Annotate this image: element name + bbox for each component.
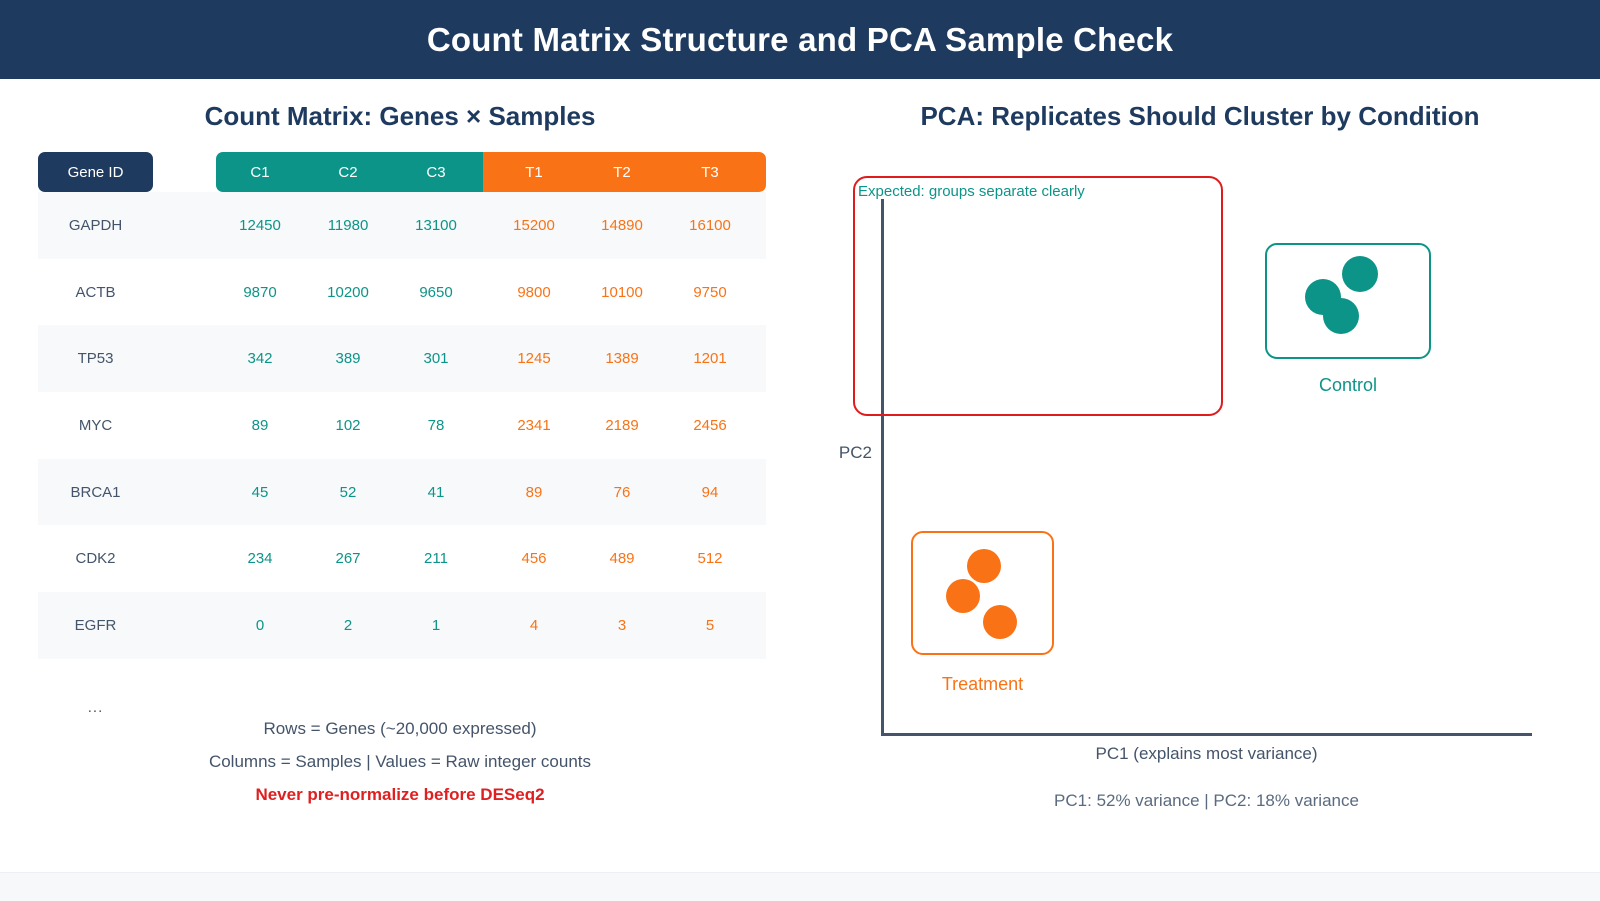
expected-separation-note: Expected: groups separate clearly: [858, 183, 1085, 200]
table-row: MYC8910278234121892456: [38, 392, 766, 459]
cell-count-treatment: 10100: [578, 284, 666, 301]
cell-count-treatment: 94: [666, 484, 754, 501]
cell-gene-name: EGFR: [38, 617, 153, 634]
cell-count-control: 9870: [216, 284, 304, 301]
table-row: CDK2234267211456489512: [38, 525, 766, 592]
cell-count-control: 12450: [216, 217, 304, 234]
treatment-cluster-box: [911, 531, 1054, 655]
control-point-1: [1342, 256, 1378, 292]
cell-count-control: 234: [216, 550, 304, 567]
cell-count-control: 45: [216, 484, 304, 501]
treatment-point-3: [983, 605, 1017, 639]
cell-count-control: 13100: [392, 217, 480, 234]
column-header-t1: T1: [490, 152, 578, 192]
cell-count-control: 89: [216, 417, 304, 434]
cell-count-treatment: 456: [490, 550, 578, 567]
pca-panel: PCA: Replicates Should Cluster by Condit…: [800, 79, 1600, 872]
column-header-gene-id: Gene ID: [38, 152, 153, 192]
cell-count-treatment: 2189: [578, 417, 666, 434]
column-header-t2: T2: [578, 152, 666, 192]
treatment-point-1: [967, 549, 1001, 583]
cell-count-treatment: 9750: [666, 284, 754, 301]
cell-count-treatment: 2456: [666, 417, 754, 434]
control-point-3: [1323, 298, 1359, 334]
pca-x-axis-line: [881, 733, 1532, 736]
cell-count-treatment: 89: [490, 484, 578, 501]
cell-count-control: 9650: [392, 284, 480, 301]
control-cluster-label: Control: [1265, 375, 1431, 396]
pca-scatter-plot: PC2 PC1 (explains most variance) Expecte…: [800, 79, 1600, 799]
pca-variance-note: PC1: 52% variance | PC2: 18% variance: [881, 791, 1532, 811]
column-header-c2: C2: [304, 152, 392, 192]
cell-count-control: 267: [304, 550, 392, 567]
table-continuation-marker: ...: [38, 699, 153, 716]
cell-count-control: 2: [304, 617, 392, 634]
cell-count-treatment: 489: [578, 550, 666, 567]
count-matrix-captions: Rows = Genes (~20,000 expressed) Columns…: [0, 719, 800, 818]
cell-count-treatment: 5: [666, 617, 754, 634]
cell-count-treatment: 1201: [666, 350, 754, 367]
cell-count-treatment: 16100: [666, 217, 754, 234]
control-cluster-box: [1265, 243, 1431, 359]
cell-count-control: 211: [392, 550, 480, 567]
table-row: TP53342389301124513891201: [38, 325, 766, 392]
count-matrix-title: Count Matrix: Genes × Samples: [0, 101, 800, 132]
column-header-t3: T3: [666, 152, 754, 192]
pca-y-axis-label: PC2: [800, 443, 872, 463]
table-header-row: Gene ID C1 C2 C3 T1 T2 T3: [38, 152, 766, 192]
cell-count-treatment: 15200: [490, 217, 578, 234]
cell-gene-name: CDK2: [38, 550, 153, 567]
cell-count-control: 301: [392, 350, 480, 367]
cell-count-treatment: 1245: [490, 350, 578, 367]
cell-count-control: 78: [392, 417, 480, 434]
table-row: BRCA1455241897694: [38, 459, 766, 526]
table-body: GAPDH124501198013100152001489016100ACTB9…: [38, 192, 766, 659]
cell-gene-name: BRCA1: [38, 484, 153, 501]
cell-count-treatment: 3: [578, 617, 666, 634]
header-banner: Count Matrix Structure and PCA Sample Ch…: [0, 0, 1600, 79]
treatment-point-2: [946, 579, 980, 613]
cell-count-treatment: 1389: [578, 350, 666, 367]
column-header-c1: C1: [216, 152, 304, 192]
page-title: Count Matrix Structure and PCA Sample Ch…: [427, 21, 1173, 59]
cell-count-treatment: 512: [666, 550, 754, 567]
table-row: GAPDH124501198013100152001489016100: [38, 192, 766, 259]
cell-count-treatment: 4: [490, 617, 578, 634]
cell-count-treatment: 2341: [490, 417, 578, 434]
cell-count-treatment: 14890: [578, 217, 666, 234]
cell-count-control: 41: [392, 484, 480, 501]
expected-separation-highlight-box: [853, 176, 1223, 416]
pca-x-axis-label: PC1 (explains most variance): [881, 744, 1532, 764]
cell-gene-name: ACTB: [38, 284, 153, 301]
cell-count-control: 11980: [304, 217, 392, 234]
cell-count-control: 0: [216, 617, 304, 634]
column-header-c3: C3: [392, 152, 480, 192]
caption-rows: Rows = Genes (~20,000 expressed): [0, 719, 800, 739]
cell-count-treatment: 9800: [490, 284, 578, 301]
cell-count-treatment: 76: [578, 484, 666, 501]
table-row: EGFR021435: [38, 592, 766, 659]
cell-gene-name: TP53: [38, 350, 153, 367]
cell-gene-name: GAPDH: [38, 217, 153, 234]
cell-gene-name: MYC: [38, 417, 153, 434]
count-matrix-panel: Count Matrix: Genes × Samples Gene ID C1…: [0, 79, 800, 872]
footer-band: [0, 872, 1600, 901]
treatment-cluster-label: Treatment: [911, 674, 1054, 695]
cell-count-control: 342: [216, 350, 304, 367]
cell-count-control: 10200: [304, 284, 392, 301]
table-row: ACTB98701020096509800101009750: [38, 259, 766, 326]
count-matrix-table: Gene ID C1 C2 C3 T1 T2 T3 GAPDH124501198…: [38, 152, 766, 192]
cell-count-control: 52: [304, 484, 392, 501]
cell-count-control: 1: [392, 617, 480, 634]
caption-warning: Never pre-normalize before DESeq2: [0, 785, 800, 805]
cell-count-control: 389: [304, 350, 392, 367]
cell-count-control: 102: [304, 417, 392, 434]
caption-columns: Columns = Samples | Values = Raw integer…: [0, 752, 800, 772]
